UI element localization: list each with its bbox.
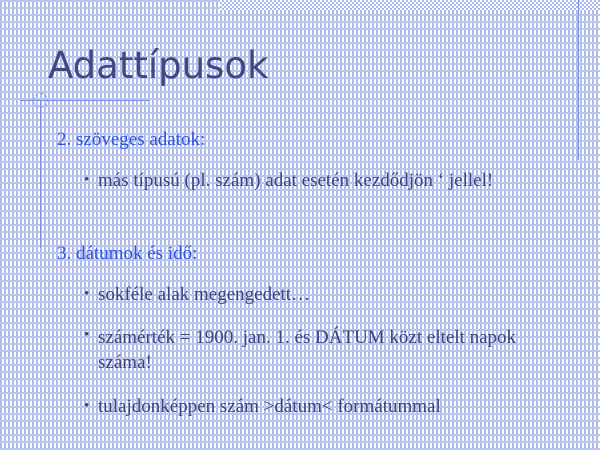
numbered-heading-2: 2. szöveges adatok:: [57, 129, 205, 151]
bullet-glyph-icon: •: [84, 398, 98, 415]
bullet-item-1-label: más típusú (pl. szám) adat esetén kezdőd…: [98, 170, 493, 191]
slide-content: Adattípusok 2. szöveges adatok: •más típ…: [0, 0, 600, 450]
bullet-item-3: •számérték = 1900. jan. 1. és DÁTUM közt…: [84, 325, 584, 375]
bullet-glyph-icon: •: [84, 286, 98, 303]
presentation-slide: Adattípusok 2. szöveges adatok: •más típ…: [0, 0, 600, 450]
bullet-item-2: •sokféle alak megengedett…: [84, 284, 310, 306]
page-title: Adattípusok: [48, 44, 268, 87]
bullet-item-1: •más típusú (pl. szám) adat esetén kezdő…: [84, 170, 493, 192]
numbered-heading-3: 3. dátumok és idő:: [57, 243, 197, 265]
bullet-item-4-label: tulajdonképpen szám >dátum< formátummal: [98, 396, 441, 417]
bullet-item-3-label: számérték = 1900. jan. 1. és DÁTUM közt …: [98, 325, 568, 375]
bullet-item-4: •tulajdonképpen szám >dátum< formátummal: [84, 396, 441, 418]
bullet-glyph-icon: •: [84, 172, 98, 189]
bullet-glyph-icon: •: [84, 327, 98, 344]
bullet-item-2-label: sokféle alak megengedett…: [98, 284, 310, 305]
